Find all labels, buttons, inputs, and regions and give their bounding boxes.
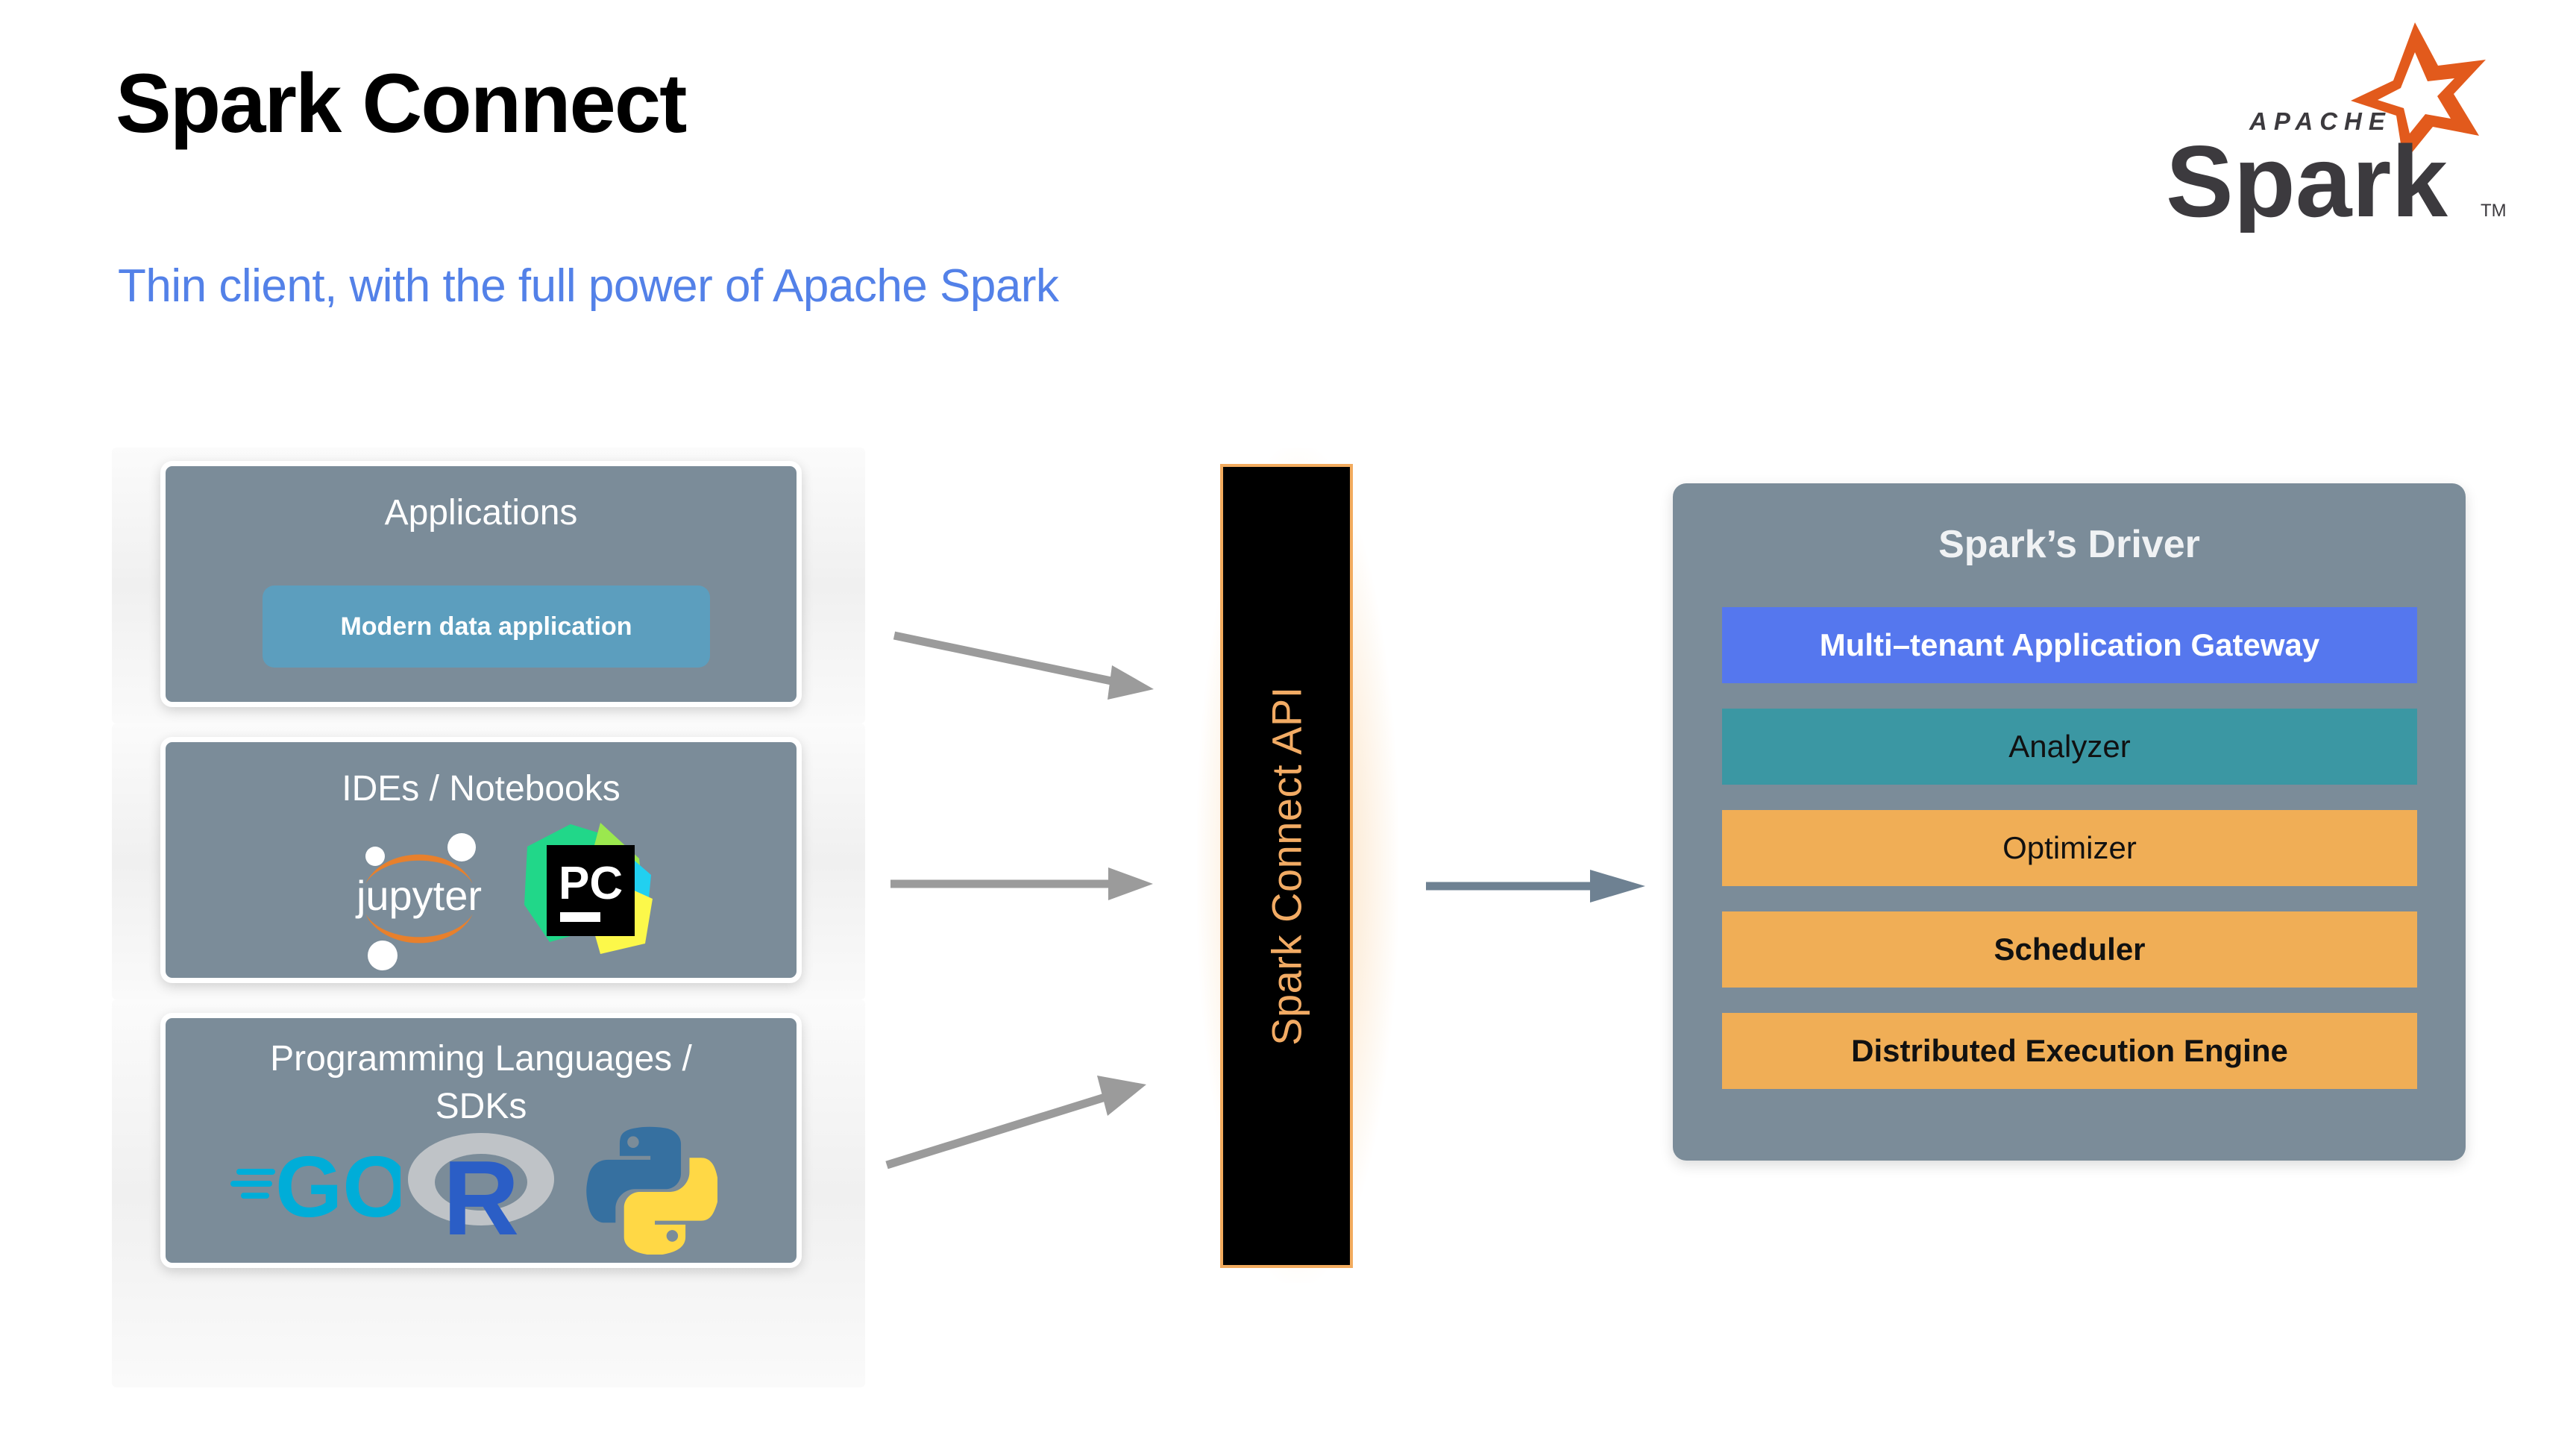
go-logo: GO xyxy=(229,1130,400,1234)
driver-row-optimizer[interactable]: Optimizer xyxy=(1722,810,2417,886)
client-card-languages-sdks[interactable]: Programming Languages / SDKs GO R xyxy=(160,1013,802,1268)
jupyter-dot-top-right xyxy=(447,833,476,861)
python-logo xyxy=(583,1117,717,1255)
architecture-diagram: Applications Modern data application IDE… xyxy=(0,0,2576,1447)
jupyter-dot-top-left xyxy=(365,847,385,866)
arrow-ides-to-api xyxy=(888,861,1156,906)
modern-data-application-chip[interactable]: Modern data application xyxy=(263,586,710,668)
jupyter-logo: jupyter xyxy=(345,823,494,972)
jupyter-dot-bottom-left xyxy=(368,941,398,970)
driver-row-multi-tenant-application-gateway[interactable]: Multi–tenant Application Gateway xyxy=(1722,607,2417,683)
driver-row-distributed-execution-engine[interactable]: Distributed Execution Engine xyxy=(1722,1013,2417,1089)
driver-row-analyzer[interactable]: Analyzer xyxy=(1722,709,2417,785)
arrow-languages-to-api xyxy=(884,1074,1160,1178)
pycharm-logo: PC xyxy=(520,815,662,961)
r-logo-svg: R xyxy=(403,1121,559,1248)
jupyter-wordmark: jupyter xyxy=(355,872,482,919)
arrow-api-to-driver xyxy=(1424,865,1648,907)
client-card-languages-sdks-title-line1: Programming Languages / xyxy=(166,1038,797,1082)
r-wordmark: R xyxy=(443,1139,520,1248)
pycharm-underscore-icon xyxy=(560,912,600,922)
sparks-driver-title: Spark’s Driver xyxy=(1673,522,2466,567)
pycharm-logo-svg: PC xyxy=(520,815,662,961)
jupyter-logo-svg: jupyter xyxy=(345,823,494,972)
client-card-applications-title: Applications xyxy=(166,492,797,536)
python-logo-svg xyxy=(583,1117,717,1255)
arrow-applications-to-api xyxy=(891,619,1160,716)
spark-connect-api-label: Spark Connect API xyxy=(1263,686,1311,1046)
client-card-applications[interactable]: Applications Modern data application xyxy=(160,461,802,707)
client-card-ides-notebooks-title: IDEs / Notebooks xyxy=(166,768,797,812)
arrow-head xyxy=(1097,1076,1146,1116)
arrow-head xyxy=(1590,870,1645,903)
go-wordmark: GO xyxy=(275,1138,400,1234)
arrow-head xyxy=(1108,867,1153,900)
r-logo: R xyxy=(403,1121,559,1248)
spark-connect-api-bar[interactable]: Spark Connect API xyxy=(1220,464,1353,1268)
arrow-shaft xyxy=(894,635,1115,682)
pycharm-wordmark: PC xyxy=(559,858,623,909)
arrow-head xyxy=(1108,665,1154,700)
driver-row-scheduler[interactable]: Scheduler xyxy=(1722,911,2417,988)
sparks-driver-panel[interactable]: Spark’s Driver Multi–tenant Application … xyxy=(1673,483,2466,1161)
go-speed-lines-icon xyxy=(230,1169,275,1199)
arrow-shaft xyxy=(887,1096,1108,1165)
client-card-ides-notebooks[interactable]: IDEs / Notebooks jupyter PC xyxy=(160,737,802,983)
go-logo-svg: GO xyxy=(229,1130,400,1234)
